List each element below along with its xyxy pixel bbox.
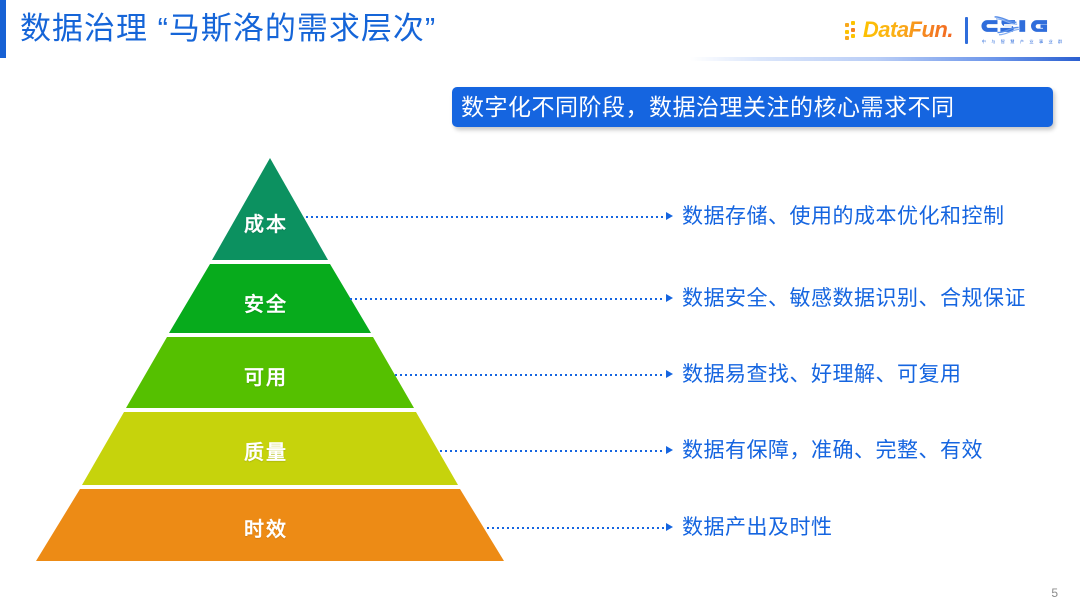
leader-arrow-4 <box>666 446 673 454</box>
description-list: 数据存储、使用的成本优化和控制 数据安全、敏感数据识别、合规保证 数据易查找、好… <box>0 0 1080 608</box>
description-text-3: 数据易查找、好理解、可复用 <box>682 362 962 388</box>
description-text-2: 数据安全、敏感数据识别、合规保证 <box>682 286 1026 312</box>
description-text-1: 数据存储、使用的成本优化和控制 <box>682 204 1005 230</box>
leader-arrow-5 <box>666 523 673 531</box>
leader-line-5 <box>487 527 664 529</box>
leader-arrow-1 <box>666 212 673 220</box>
description-item-3: 数据易查找、好理解、可复用 <box>682 362 962 388</box>
leader-arrow-3 <box>666 370 673 378</box>
description-item-4: 数据有保障，准确、完整、有效 <box>682 438 983 464</box>
leader-arrow-2 <box>666 294 673 302</box>
description-text-5: 数据产出及时性 <box>682 515 833 541</box>
description-text-4: 数据有保障，准确、完整、有效 <box>682 438 983 464</box>
description-item-5: 数据产出及时性 <box>682 515 833 541</box>
page-number: 5 <box>1051 586 1058 600</box>
description-item-1: 数据存储、使用的成本优化和控制 <box>682 204 1005 230</box>
description-item-2: 数据安全、敏感数据识别、合规保证 <box>682 286 1026 312</box>
leader-line-3 <box>395 374 664 376</box>
leader-line-4 <box>440 450 664 452</box>
leader-line-1 <box>306 216 664 218</box>
slide-root: 数据治理 “马斯洛的需求层次” DataFun. 中 与 智 慧 产 业 事 业 <box>0 0 1080 608</box>
leader-line-2 <box>350 298 664 300</box>
